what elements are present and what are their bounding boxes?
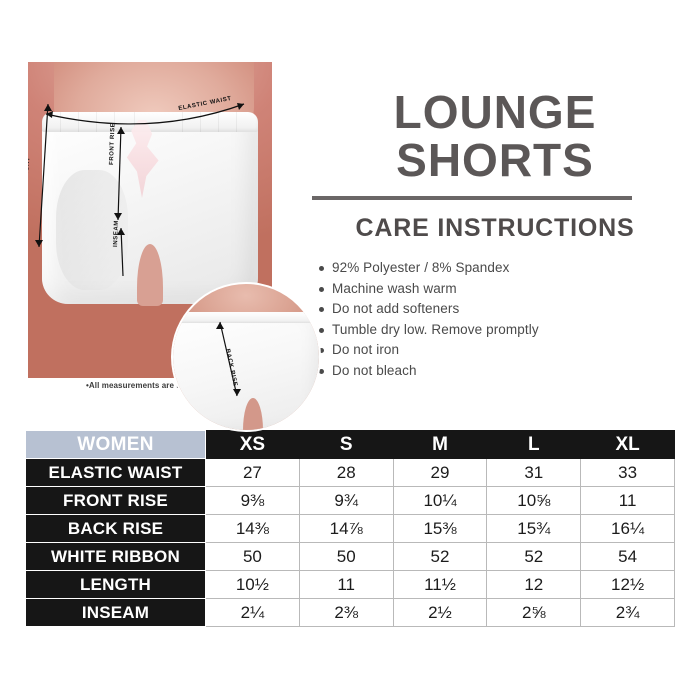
size-header-xs: XS <box>206 431 300 459</box>
page-title-line2: SHORTS <box>300 136 690 184</box>
callout-label-inseam: INSEAM <box>113 220 120 247</box>
table-row: INSEAM 2¼ 2⅜ 2½ 2⅝ 2¾ <box>26 599 675 627</box>
cell-back-rise-s: 14⅞ <box>299 515 393 543</box>
size-chart-table: WOMEN XS S M L XL ELASTIC WAIST 27 28 29… <box>25 430 675 627</box>
list-item: Do not bleach <box>318 361 539 382</box>
table-header-row: WOMEN XS S M L XL <box>26 431 675 459</box>
cell-elastic-waist-xl: 33 <box>581 459 675 487</box>
size-chart-page: ELASTIC WAIST LENGHT FRONT RISE INSEAM <box>0 0 700 700</box>
cell-white-ribbon-m: 52 <box>393 543 487 571</box>
page-title-line1: LOUNGE <box>300 88 690 136</box>
cell-elastic-waist-l: 31 <box>487 459 581 487</box>
cell-white-ribbon-s: 50 <box>299 543 393 571</box>
size-header-m: M <box>393 431 487 459</box>
cell-white-ribbon-l: 52 <box>487 543 581 571</box>
cell-front-rise-m: 10¼ <box>393 487 487 515</box>
cell-back-rise-xs: 14⅜ <box>206 515 300 543</box>
cell-elastic-waist-xs: 27 <box>206 459 300 487</box>
back-view-inset: BACK RISE <box>173 284 319 430</box>
cell-inseam-s: 2⅜ <box>299 599 393 627</box>
care-instructions-heading: CARE INSTRUCTIONS <box>300 214 690 243</box>
table-row: LENGTH 10½ 11 11½ 12 12½ <box>26 571 675 599</box>
row-label-length: LENGTH <box>26 571 206 599</box>
row-label-back-rise: BACK RISE <box>26 515 206 543</box>
list-item: Do not iron <box>318 340 539 361</box>
cell-length-m: 11½ <box>393 571 487 599</box>
cell-inseam-xl: 2¾ <box>581 599 675 627</box>
cell-back-rise-xl: 16¼ <box>581 515 675 543</box>
cell-length-xl: 12½ <box>581 571 675 599</box>
cell-length-l: 12 <box>487 571 581 599</box>
cell-inseam-l: 2⅝ <box>487 599 581 627</box>
cell-back-rise-l: 15¾ <box>487 515 581 543</box>
product-photo-panel: ELASTIC WAIST LENGHT FRONT RISE INSEAM <box>28 62 272 378</box>
cell-back-rise-m: 15⅜ <box>393 515 487 543</box>
row-label-elastic-waist: ELASTIC WAIST <box>26 459 206 487</box>
callout-back-rise-arrow <box>173 284 319 430</box>
table-row: WHITE RIBBON 50 50 52 52 54 <box>26 543 675 571</box>
cell-front-rise-xs: 9⅜ <box>206 487 300 515</box>
list-item: Machine wash warm <box>318 279 539 300</box>
table-row: ELASTIC WAIST 27 28 29 31 33 <box>26 459 675 487</box>
table-row: FRONT RISE 9⅜ 9¾ 10¼ 10⅝ 11 <box>26 487 675 515</box>
list-item: 92% Polyester / 8% Spandex <box>318 258 539 279</box>
cell-elastic-waist-s: 28 <box>299 459 393 487</box>
cell-length-s: 11 <box>299 571 393 599</box>
cell-length-xs: 10½ <box>206 571 300 599</box>
table-corner-label: WOMEN <box>26 431 206 459</box>
cell-white-ribbon-xs: 50 <box>206 543 300 571</box>
list-item: Do not add softeners <box>318 299 539 320</box>
title-block: LOUNGE SHORTS <box>300 88 690 184</box>
size-header-xl: XL <box>581 431 675 459</box>
row-label-inseam: INSEAM <box>26 599 206 627</box>
size-header-s: S <box>299 431 393 459</box>
cell-elastic-waist-m: 29 <box>393 459 487 487</box>
size-header-l: L <box>487 431 581 459</box>
title-divider <box>312 196 632 200</box>
cell-front-rise-xl: 11 <box>581 487 675 515</box>
list-item: Tumble dry low. Remove promptly <box>318 320 539 341</box>
cell-front-rise-s: 9¾ <box>299 487 393 515</box>
care-instructions-list: 92% Polyester / 8% Spandex Machine wash … <box>318 258 539 381</box>
row-label-white-ribbon: WHITE RIBBON <box>26 543 206 571</box>
cell-inseam-xs: 2¼ <box>206 599 300 627</box>
table-row: BACK RISE 14⅜ 14⅞ 15⅜ 15¾ 16¼ <box>26 515 675 543</box>
cell-front-rise-l: 10⅝ <box>487 487 581 515</box>
cell-white-ribbon-xl: 54 <box>581 543 675 571</box>
row-label-front-rise: FRONT RISE <box>26 487 206 515</box>
cell-inseam-m: 2½ <box>393 599 487 627</box>
